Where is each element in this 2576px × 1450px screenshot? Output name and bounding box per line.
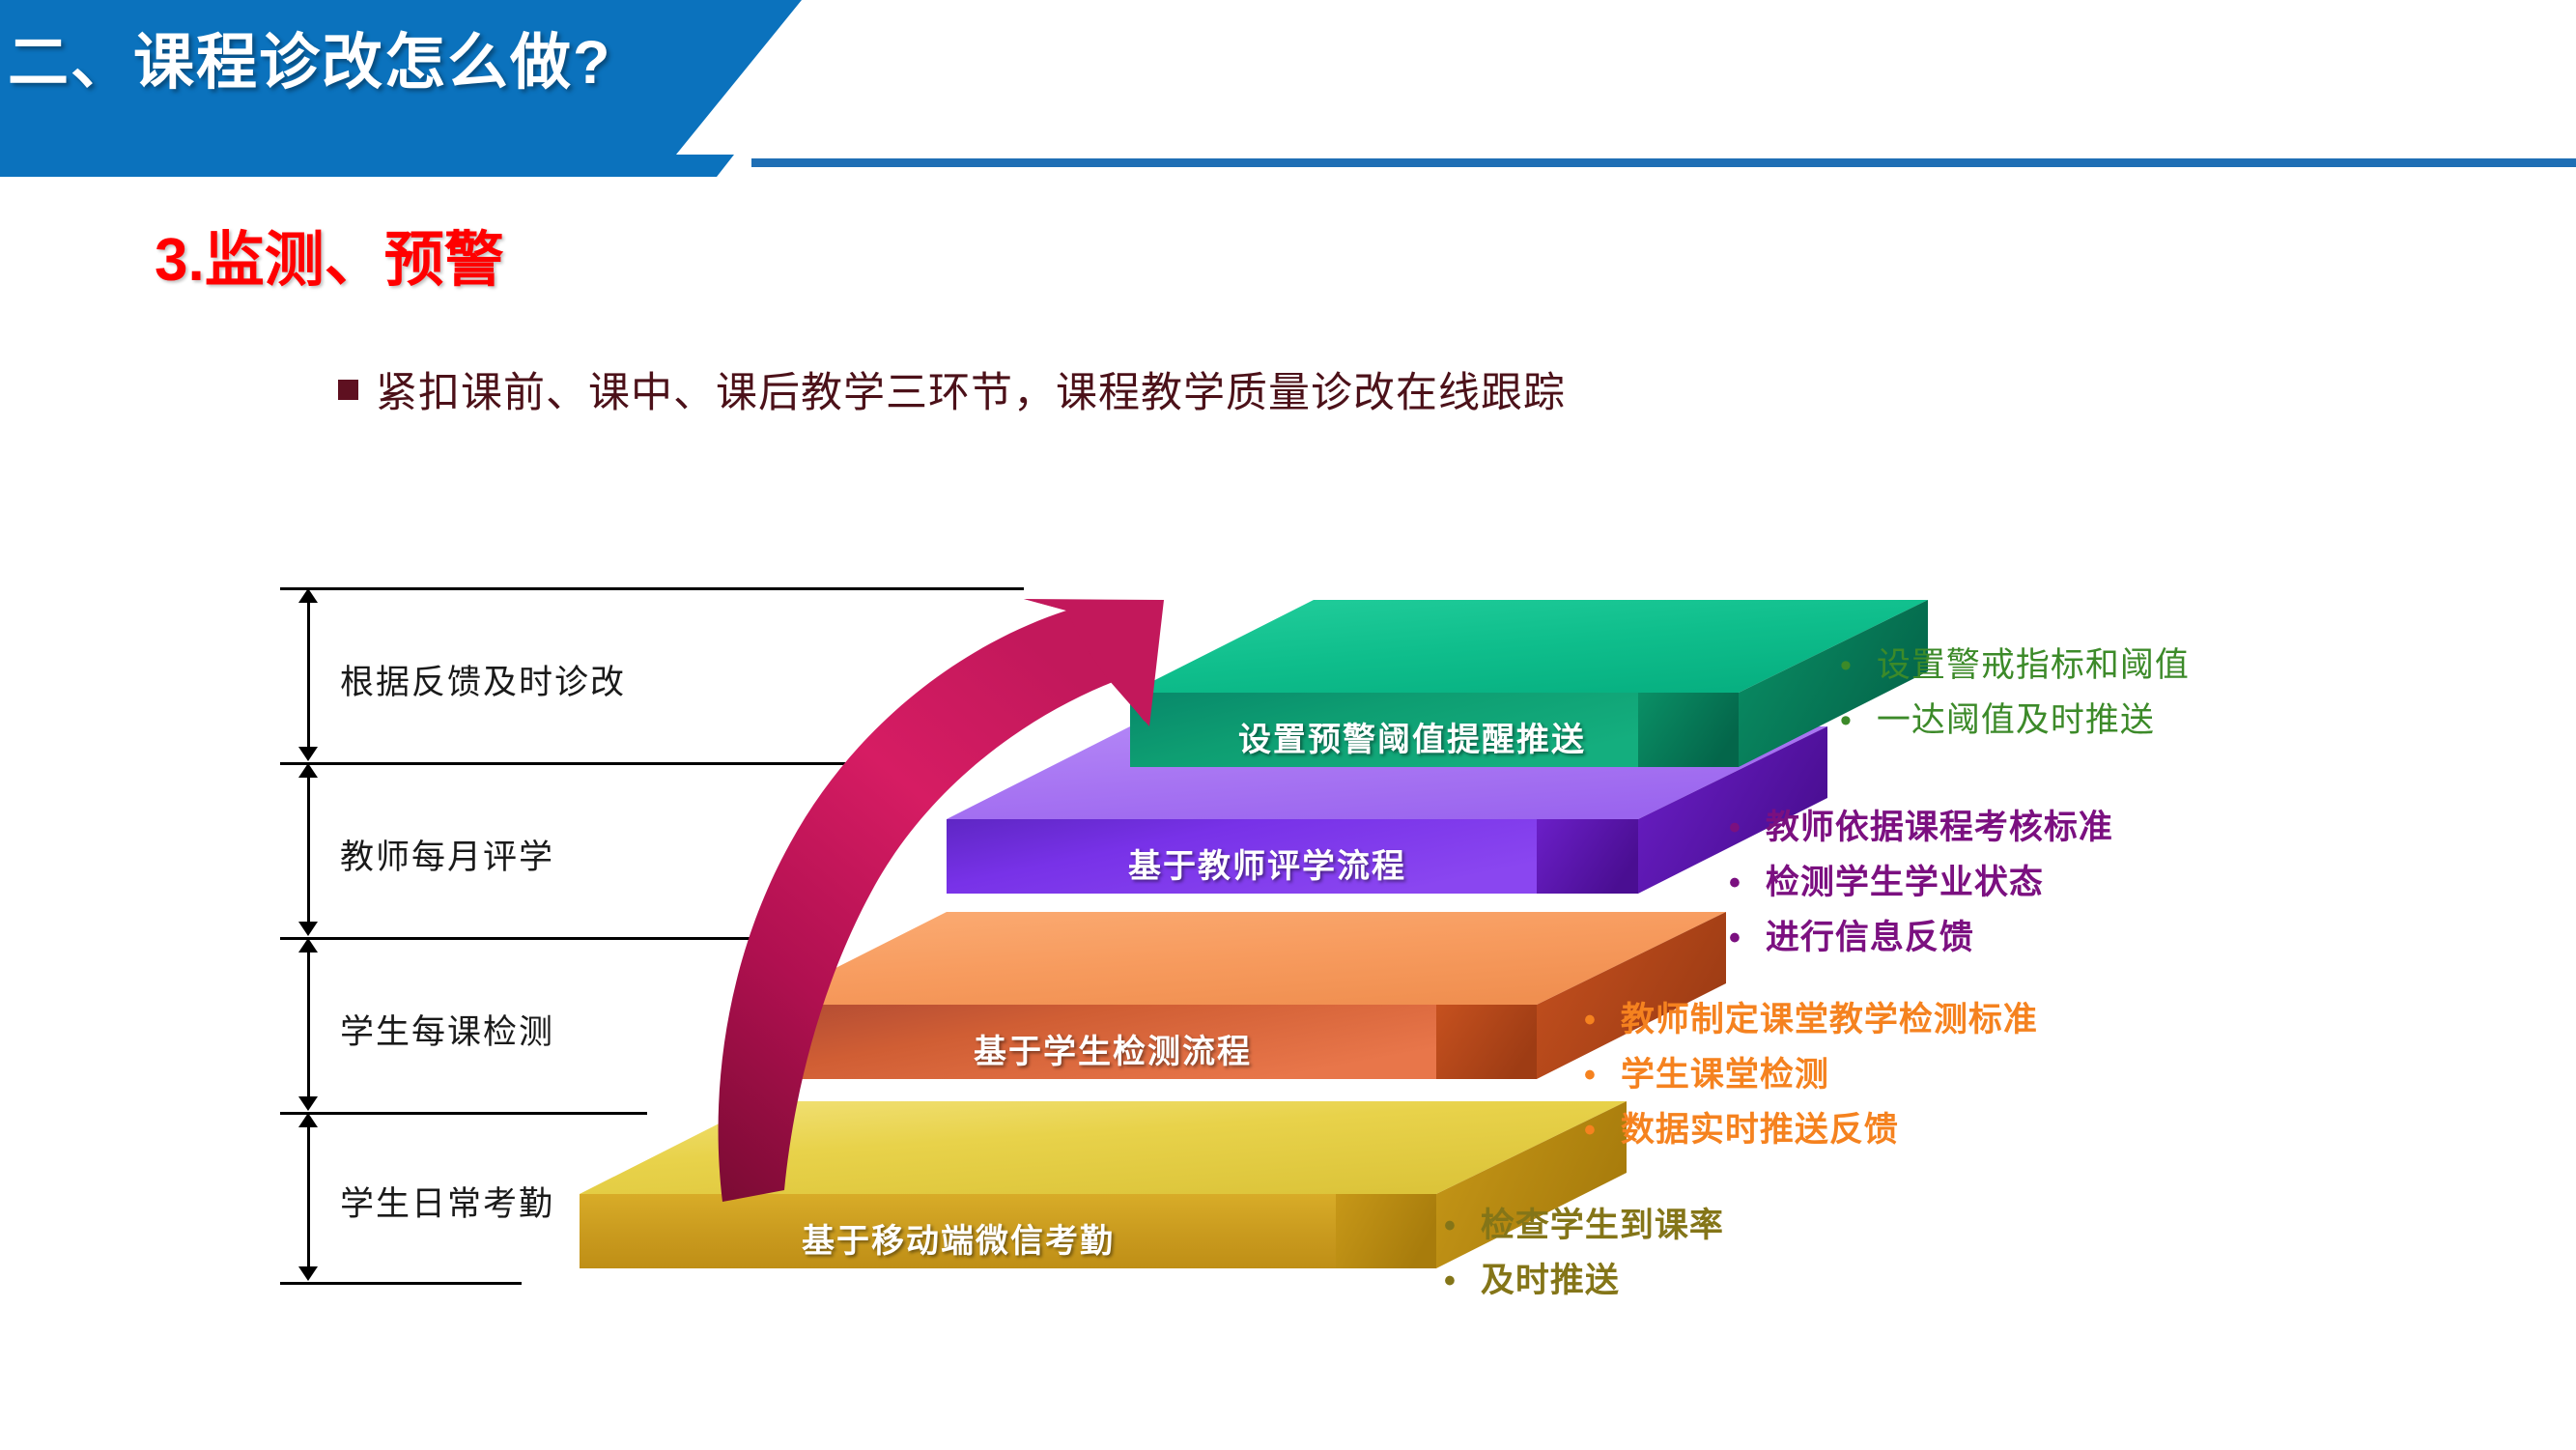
annotation-group-alert: • 设置警戒指标和阈值 • 一达阈值及时推送	[1840, 638, 2190, 748]
annotation-item: • 数据实时推送反馈	[1584, 1102, 2038, 1151]
header-banner-underbar	[0, 155, 734, 177]
annotation-item: • 教师依据课程考核标准	[1729, 800, 2113, 849]
annotation-text: 数据实时推送反馈	[1621, 1102, 1899, 1151]
header-divider-rule	[751, 158, 2576, 167]
annotation-text: 设置警戒指标和阈值	[1877, 638, 2190, 687]
axis-label-4: 学生日常考勤	[340, 1177, 554, 1226]
slide-canvas: 二、课程诊改怎么做? 3.监测、预警 紧扣课前、课中、课后教学三环节，课程教学质…	[0, 0, 2576, 1450]
axis-label-3: 学生每课检测	[340, 1005, 554, 1054]
bullet-dot-icon: •	[1840, 704, 1852, 737]
annotation-item: • 一达阈值及时推送	[1840, 693, 2190, 742]
annotation-item: • 学生课堂检测	[1584, 1047, 2038, 1096]
axis-rule-top	[280, 587, 1024, 590]
section-title: 3.监测、预警	[155, 211, 504, 298]
annotation-text: 检测学生学业状态	[1766, 855, 2044, 904]
annotation-item: • 教师制定课堂教学检测标准	[1584, 992, 2038, 1041]
annotation-item: • 进行信息反馈	[1729, 910, 2113, 959]
axis-rule-1	[280, 762, 898, 765]
lead-bullet-text: 紧扣课前、课中、课后教学三环节，课程教学质量诊改在线跟踪	[376, 359, 1566, 419]
step-label-attendance: 基于移动端微信考勤	[802, 1214, 1115, 1262]
annotation-item: • 设置警戒指标和阈值	[1840, 638, 2190, 687]
axis-label-2: 教师每月评学	[340, 830, 554, 879]
annotation-text: 及时推送	[1481, 1253, 1620, 1302]
axis-span-arrow-3	[307, 951, 310, 1098]
annotation-text: 教师制定课堂教学检测标准	[1621, 992, 2038, 1041]
annotation-item: • 及时推送	[1444, 1253, 1724, 1302]
bullet-dot-icon: •	[1584, 1004, 1596, 1037]
axis-rule-bottom	[280, 1282, 522, 1285]
step-label-student-test: 基于学生检测流程	[974, 1025, 1252, 1072]
axis-label-1: 根据反馈及时诊改	[340, 655, 626, 704]
bullet-dot-icon: •	[1729, 867, 1741, 899]
axis-rule-2	[280, 937, 773, 940]
step-label-teacher-eval: 基于教师评学流程	[1128, 839, 1406, 887]
annotation-text: 检查学生到课率	[1481, 1198, 1724, 1247]
axis-measure-group: 根据反馈及时诊改 教师每月评学 学生每课检测 学生日常考勤	[280, 587, 1362, 1285]
lead-bullet: 紧扣课前、课中、课后教学三环节，课程教学质量诊改在线跟踪	[338, 359, 1566, 419]
annotation-text: 教师依据课程考核标准	[1766, 800, 2113, 849]
axis-span-arrow-1	[307, 601, 310, 749]
bullet-dot-icon: •	[1584, 1114, 1596, 1147]
axis-span-arrow-2	[307, 776, 310, 924]
bullet-dot-icon: •	[1729, 922, 1741, 954]
axis-span-arrow-4	[307, 1125, 310, 1268]
step-slab-side	[1638, 693, 1739, 767]
annotation-text: 进行信息反馈	[1766, 910, 1974, 959]
annotation-group-attendance: • 检查学生到课率 • 及时推送	[1444, 1198, 1724, 1308]
square-bullet-icon	[338, 380, 358, 400]
annotation-item: • 检测学生学业状态	[1729, 855, 2113, 904]
bullet-dot-icon: •	[1840, 649, 1852, 682]
annotation-text: 学生课堂检测	[1621, 1047, 1829, 1096]
step-label-alert-threshold: 设置预警阈值提醒推送	[1238, 713, 1586, 760]
annotation-group-teacher-eval: • 教师依据课程考核标准 • 检测学生学业状态 • 进行信息反馈	[1729, 800, 2113, 965]
step-slab-side	[1436, 1005, 1537, 1079]
annotation-item: • 检查学生到课率	[1444, 1198, 1724, 1247]
step-slab-side	[1537, 819, 1638, 894]
header-banner-title: 二、课程诊改怎么做?	[8, 14, 771, 101]
bullet-dot-icon: •	[1729, 811, 1741, 844]
bullet-dot-icon: •	[1444, 1209, 1456, 1242]
annotation-text: 一达阈值及时推送	[1877, 693, 2155, 742]
annotation-group-student-test: • 教师制定课堂教学检测标准 • 学生课堂检测 • 数据实时推送反馈	[1584, 992, 2038, 1157]
axis-rule-3	[280, 1112, 647, 1115]
bullet-dot-icon: •	[1584, 1059, 1596, 1092]
bullet-dot-icon: •	[1444, 1265, 1456, 1297]
